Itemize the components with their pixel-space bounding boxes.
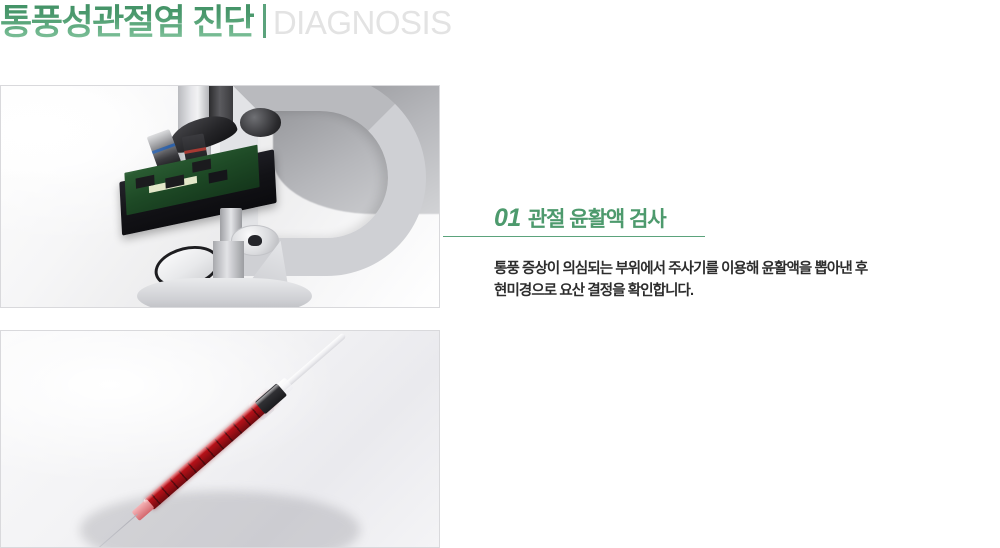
microscope-base [137, 278, 312, 308]
diagnosis-item-2: 02혈청 요산농도 혈액검사를 통하여 측정하며 7.0MG/DL 이상이면 진… [0, 330, 1000, 548]
page-title: 통풍성관절염 진단 [0, 0, 254, 46]
diagnosis-item-1: 01관절 윤활액 검사 통풍 증상이 의심되는 부위에서 주사기를 이용해 윤활… [0, 85, 1000, 308]
header-inner: 통풍성관절염 진단 DIAGNOSIS [0, 0, 1000, 58]
syringe-graduation-marks [151, 404, 264, 505]
microscope-image-art [1, 86, 439, 307]
page-title-english: DIAGNOSIS [273, 0, 452, 46]
section-1-number: 01 [494, 204, 521, 232]
microscope-knob [240, 108, 282, 137]
microscope-photo [0, 85, 440, 308]
section-1-body: 통풍 증상이 의심되는 부위에서 주사기를 이용해 윤활액을 뽑아낸 후 현미경… [494, 258, 867, 302]
diagnosis-page: 통풍성관절염 진단 DIAGNOSIS [0, 0, 1000, 548]
section-1-underline [443, 236, 705, 237]
section-1-title: 관절 윤활액 검사 [528, 208, 666, 231]
section-1-heading: 01관절 윤활액 검사 [494, 203, 666, 233]
syringe-highlight [143, 377, 288, 504]
title-divider-bar [263, 4, 266, 38]
syringe-photo [0, 330, 440, 548]
page-header: 통풍성관절염 진단 DIAGNOSIS [0, 0, 1000, 58]
syringe-image-art [1, 331, 439, 547]
